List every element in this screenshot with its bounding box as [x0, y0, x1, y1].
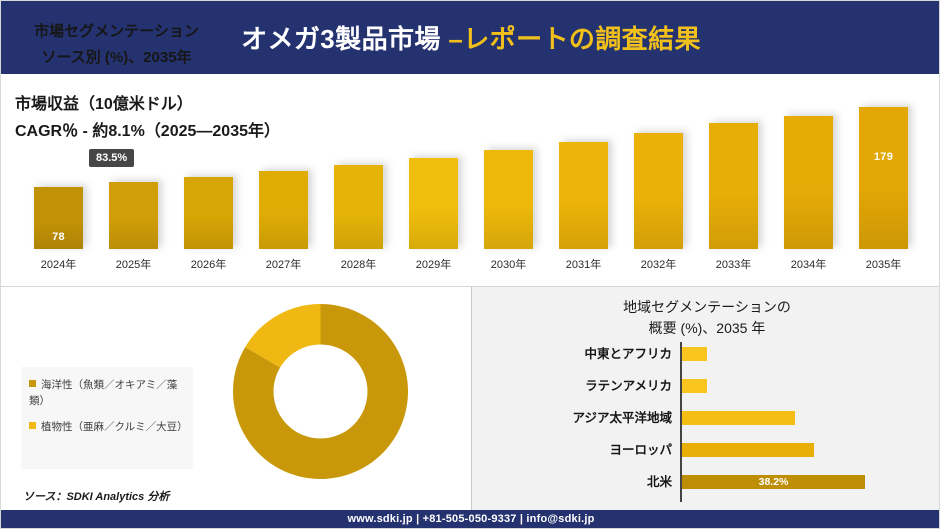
column-category-label: 2031年: [546, 256, 621, 272]
donut-hole: [274, 345, 368, 439]
column-slot: [546, 101, 621, 249]
column-category-label: 2030年: [471, 256, 546, 272]
region-title-line-1: 地域セグメンテーションの: [472, 297, 940, 318]
region-bar[interactable]: [682, 379, 707, 393]
column-slot: [96, 101, 171, 249]
source-note: ソース：SDKI Analytics 分析: [23, 488, 169, 504]
region-panel: 地域セグメンテーションの 概要 (%)、2035 年 中東とアフリカラテンアメリ…: [471, 286, 940, 514]
column-category-label: 2025年: [96, 256, 171, 272]
column-bar[interactable]: [634, 133, 683, 249]
column-category-label: 2033年: [696, 256, 771, 272]
column-category-label: 2029年: [396, 256, 471, 272]
legend-swatch-icon: [29, 422, 36, 429]
column-slot: [696, 101, 771, 249]
region-name-label: ヨーロッパ: [472, 441, 672, 460]
column-category-label: 2035年: [846, 256, 921, 272]
column-slot: 179: [846, 101, 921, 249]
column-bar[interactable]: [784, 116, 833, 249]
column-slot: [246, 101, 321, 249]
region-bar[interactable]: [682, 443, 814, 457]
region-name-label: ラテンアメリカ: [472, 377, 672, 396]
region-title: 地域セグメンテーションの 概要 (%)、2035 年: [472, 297, 940, 339]
column-bar[interactable]: [484, 150, 533, 249]
column-category-label: 2028年: [321, 256, 396, 272]
segmentation-legend: 海洋性（魚類／オキアミ／藻類）植物性（亜麻／クルミ／大豆）: [21, 367, 193, 469]
donut-svg: [233, 304, 408, 479]
legend-swatch-icon: [29, 380, 36, 387]
region-name-label: 北米: [472, 473, 672, 492]
segmentation-title-line-2: ソース別 (%)、2035年: [9, 45, 224, 71]
region-row: 北米38.2%: [472, 473, 940, 505]
footer-contact: www.sdki.jp | +81-505-050-9337 | info@sd…: [347, 513, 594, 525]
segmentation-title-line-1: 市場セグメンテーション: [9, 19, 224, 45]
column-bar[interactable]: [184, 177, 233, 249]
region-bar[interactable]: [682, 347, 707, 361]
segmentation-title: 市場セグメンテーション ソース別 (%)、2035年: [9, 19, 224, 71]
page-title-sub: –レポートの調査結果: [441, 24, 701, 54]
column-bar[interactable]: 78: [34, 187, 83, 249]
region-bar[interactable]: [682, 411, 795, 425]
column-bar-value: 78: [34, 231, 83, 243]
region-plot-area: 中東とアフリカラテンアメリカアジア太平洋地域ヨーロッパ北米38.2%: [472, 342, 940, 504]
region-row: ヨーロッパ: [472, 441, 940, 473]
column-slot: 78: [21, 101, 96, 249]
column-category-label: 2034年: [771, 256, 846, 272]
column-category-label: 2032年: [621, 256, 696, 272]
column-slot: [771, 101, 846, 249]
column-slot: [471, 101, 546, 249]
infographic-page: オメガ3製品市場 –レポートの調査結果 市場収益（10億米ドル） CAGR％ -…: [0, 0, 940, 529]
region-row: アジア太平洋地域: [472, 409, 940, 441]
column-bar[interactable]: [334, 165, 383, 249]
column-slot: [171, 101, 246, 249]
region-name-label: 中東とアフリカ: [472, 345, 672, 364]
column-bar[interactable]: [109, 182, 158, 249]
column-slot: [621, 101, 696, 249]
legend-item[interactable]: 植物性（亜麻／クルミ／大豆）: [29, 419, 191, 435]
legend-item-label: 植物性（亜麻／クルミ／大豆）: [41, 421, 188, 433]
column-bar-value: 179: [859, 151, 908, 163]
region-row: 中東とアフリカ: [472, 345, 940, 377]
column-category-label: 2024年: [21, 256, 96, 272]
revenue-column-chart: 782024年2025年2026年2027年2028年2029年2030年203…: [21, 101, 921, 276]
column-slot: [396, 101, 471, 249]
column-bar[interactable]: [409, 158, 458, 249]
region-name-label: アジア太平洋地域: [472, 409, 672, 428]
column-category-label: 2026年: [171, 256, 246, 272]
column-bar[interactable]: [559, 142, 608, 249]
column-category-label: 2027年: [246, 256, 321, 272]
page-footer: www.sdki.jp | +81-505-050-9337 | info@sd…: [1, 510, 940, 528]
column-bar[interactable]: [709, 123, 758, 249]
page-title: オメガ3製品市場 –レポートの調査結果: [241, 19, 701, 56]
region-title-line-2: 概要 (%)、2035 年: [472, 318, 940, 339]
region-bar-value: 38.2%: [682, 476, 865, 488]
column-slot: [321, 101, 396, 249]
donut-data-label: 83.5%: [89, 149, 134, 167]
column-bar[interactable]: [259, 171, 308, 249]
region-row: ラテンアメリカ: [472, 377, 940, 409]
region-bar[interactable]: 38.2%: [682, 475, 865, 489]
page-title-main: オメガ3製品市場: [241, 24, 441, 54]
column-plot-area: 782024年2025年2026年2027年2028年2029年2030年203…: [21, 101, 921, 249]
segmentation-donut-chart: [233, 304, 408, 479]
legend-item[interactable]: 海洋性（魚類／オキアミ／藻類）: [29, 377, 191, 409]
legend-item-label: 海洋性（魚類／オキアミ／藻類）: [29, 379, 177, 407]
column-bar[interactable]: 179: [859, 107, 908, 249]
